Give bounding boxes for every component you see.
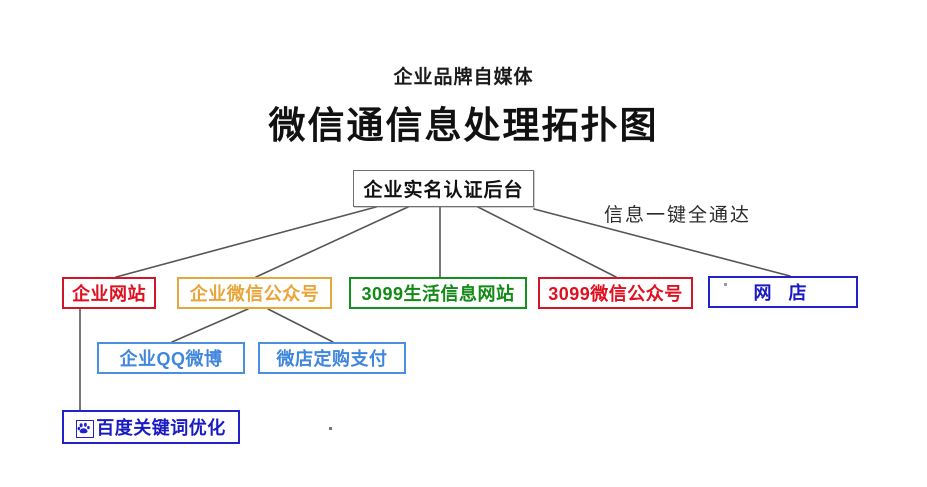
- node-baidu-keyword-optimization[interactable]: 百度关键词优化: [62, 410, 240, 444]
- node-enterprise-wechat-official[interactable]: 企业微信公众号: [177, 277, 332, 309]
- edge-wx-to-pay: [268, 309, 333, 342]
- node-micro-shop-payment[interactable]: 微店定购支付: [258, 342, 406, 374]
- edge-root-to-site: [116, 207, 376, 277]
- node-label: 企业微信公众号: [190, 280, 320, 306]
- node-root-backend[interactable]: 企业实名认证后台: [353, 170, 534, 207]
- node-label: 3099微信公众号: [548, 280, 683, 306]
- node-3099-wechat-official[interactable]: 3099微信公众号: [538, 277, 693, 309]
- node-label: 企业网站: [72, 280, 146, 306]
- edge-wx-to-qq: [172, 309, 248, 342]
- node-3099-life-info-site[interactable]: 3099生活信息网站: [349, 277, 527, 309]
- node-label: 企业实名认证后台: [363, 175, 523, 202]
- baidu-paw-icon: [76, 420, 94, 438]
- annotation-label: 信息一键全通达: [604, 200, 751, 227]
- node-enterprise-website[interactable]: 企业网站: [62, 277, 156, 309]
- node-enterprise-qq-weibo[interactable]: 企业QQ微博: [97, 342, 245, 374]
- edge-root-to-wx: [256, 207, 408, 277]
- topology-diagram: 企业品牌自媒体 微信通信息处理拓扑图 信息一键全通达 企业实名认证后台 企业网站…: [0, 0, 927, 487]
- node-label: 微店定购支付: [277, 345, 388, 371]
- artifact-speck: [329, 427, 332, 430]
- page-title: 微信通信息处理拓扑图: [0, 95, 927, 149]
- node-online-shop[interactable]: 网 店: [708, 276, 858, 308]
- node-label: 百度关键词优化: [96, 414, 226, 440]
- artifact-speck: [724, 283, 727, 286]
- page-subtitle: 企业品牌自媒体: [0, 62, 927, 89]
- edge-root-to-3099w: [478, 207, 616, 277]
- node-label: 企业QQ微博: [119, 345, 222, 371]
- node-label: 3099生活信息网站: [361, 280, 514, 306]
- node-label: 网 店: [753, 279, 812, 305]
